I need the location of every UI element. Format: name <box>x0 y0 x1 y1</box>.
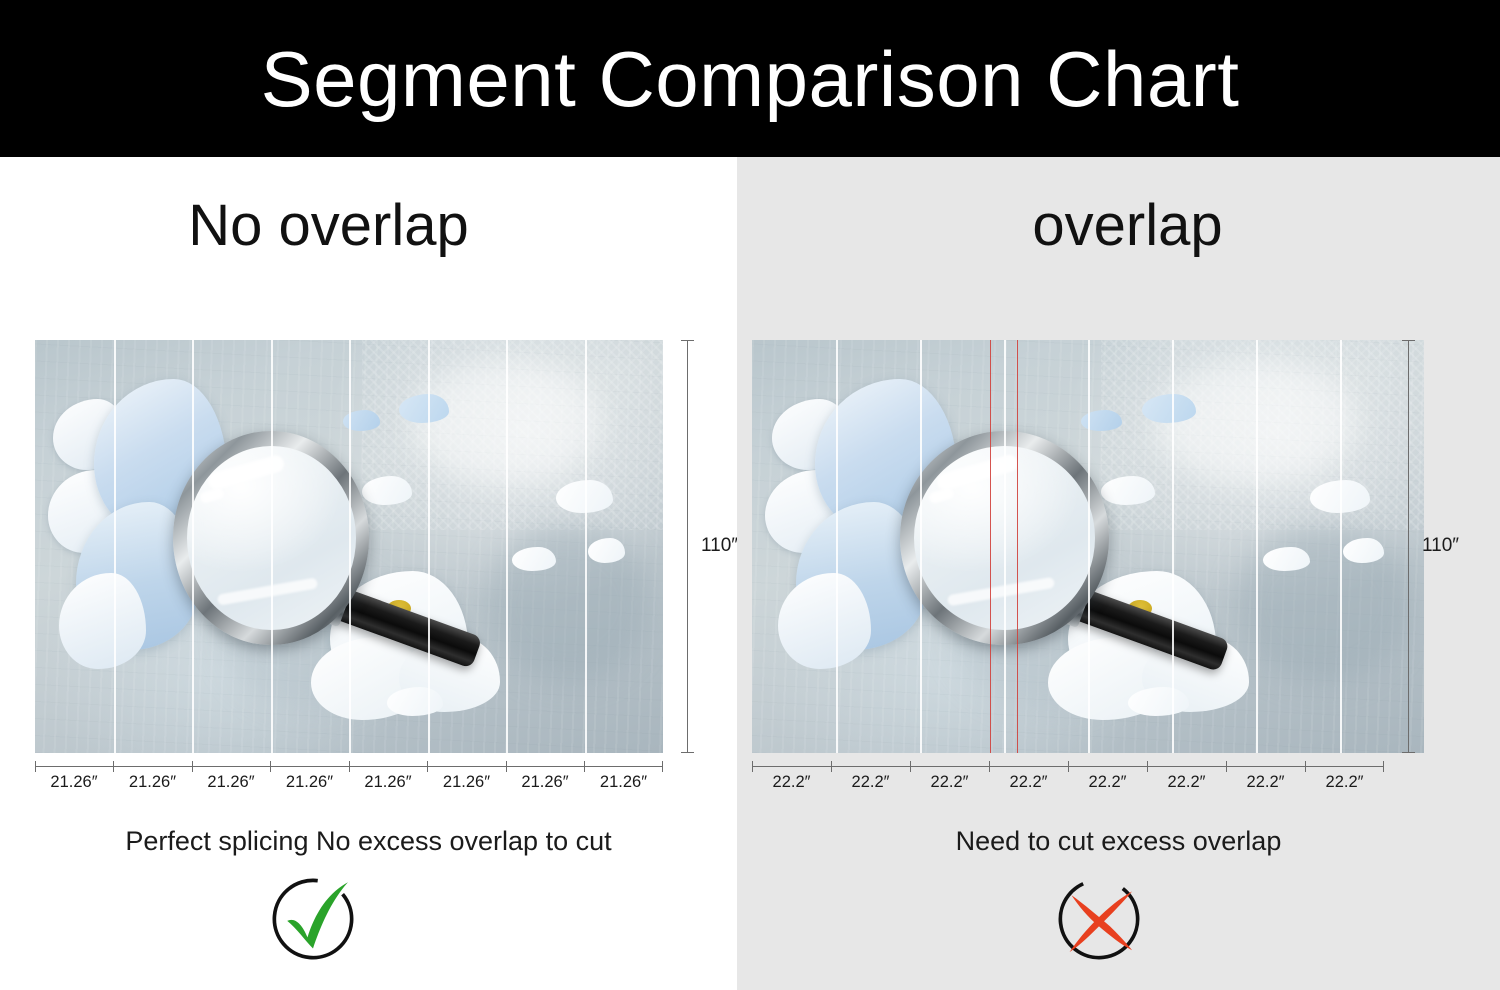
magnifier-handle <box>330 586 483 668</box>
width-dimension-tick <box>1068 761 1069 772</box>
segment-seam <box>836 340 838 753</box>
magnifier-icon <box>900 431 1303 728</box>
height-dimension-cap-top <box>1402 340 1415 341</box>
mural-figure-overlap: 110″ 22.2″ 22.2″ 22.2″ 22.2″ 22.2″ 22.2″… <box>752 340 1424 753</box>
flower-petal <box>59 573 146 670</box>
width-dimension-tick <box>192 761 193 772</box>
segment-seam <box>920 340 922 753</box>
segment-width-label: 22.2″ <box>1068 774 1147 791</box>
panel-heading-overlap: overlap <box>737 197 1500 255</box>
segment-width-label: 21.26″ <box>35 774 113 791</box>
height-dimension-cap-bottom <box>681 752 694 753</box>
segment-width-label: 22.2″ <box>989 774 1068 791</box>
width-dimension-tick <box>270 761 271 772</box>
segment-width-label: 21.26″ <box>506 774 584 791</box>
segment-width-label: 21.26″ <box>427 774 506 791</box>
segment-seam <box>1340 340 1342 753</box>
segment-width-label: 22.2″ <box>752 774 831 791</box>
height-label: 110″ <box>701 536 738 555</box>
check-circle-icon <box>267 873 359 965</box>
height-label: 110″ <box>1422 536 1459 555</box>
verdict-cross-circle <box>1053 873 1145 965</box>
lens-glare <box>199 487 225 504</box>
mural-image-overlap <box>752 340 1424 753</box>
height-dimension-line <box>687 340 688 753</box>
panel-overlap: overlap <box>737 157 1500 990</box>
segment-width-label: 22.2″ <box>910 774 989 791</box>
magnifier-handle <box>1068 586 1231 672</box>
lens-glare <box>217 577 319 605</box>
segment-width-label: 22.2″ <box>831 774 910 791</box>
segment-width-label: 21.26″ <box>584 774 663 791</box>
width-dimension-tick <box>662 761 663 772</box>
width-dimension-tick <box>752 761 753 772</box>
page-title: Segment Comparison Chart <box>261 40 1240 118</box>
segment-seam <box>271 340 273 753</box>
segment-seam <box>506 340 508 753</box>
width-dimension-tick <box>910 761 911 772</box>
width-dimension-tick <box>831 761 832 772</box>
segment-width-label: 21.26″ <box>192 774 270 791</box>
width-dimension-tick <box>113 761 114 772</box>
lens-glare <box>947 577 1056 607</box>
segment-width-label: 22.2″ <box>1305 774 1384 791</box>
segment-seam <box>114 340 116 753</box>
segment-width-label: 21.26″ <box>270 774 349 791</box>
width-dimension-tick <box>1147 761 1148 772</box>
overlap-cut-mark <box>1017 340 1018 753</box>
floating-petal-blue <box>1142 394 1196 423</box>
mural-figure-no-overlap: 110″ 21.26″ 21.26″ 21.26″ 21.26″ 21.26″ … <box>35 340 663 753</box>
height-dimension-cap-bottom <box>1402 752 1415 753</box>
segment-comparison-chart-page: Segment Comparison Chart No overlap <box>0 0 1500 990</box>
segment-seam <box>1004 340 1006 753</box>
width-dimension-tick <box>989 761 990 772</box>
width-dimension-tick <box>427 761 428 772</box>
floating-petal-blue <box>399 394 449 423</box>
segment-seam <box>585 340 587 753</box>
width-dimension-tick <box>1383 761 1384 772</box>
segment-seam <box>1256 340 1258 753</box>
comparison-panels: No overlap <box>0 157 1500 990</box>
segment-width-label: 22.2″ <box>1226 774 1305 791</box>
floating-petal <box>1343 538 1383 563</box>
width-dimension-tick <box>1305 761 1306 772</box>
floating-petal <box>588 538 626 563</box>
panel-heading-no-overlap: No overlap <box>0 197 737 255</box>
overlap-cut-mark <box>990 340 991 753</box>
cross-circle-icon <box>1053 873 1145 965</box>
panel-caption-no-overlap: Perfect splicing No excess overlap to cu… <box>0 828 737 855</box>
segment-seam <box>1172 340 1174 753</box>
title-bar: Segment Comparison Chart <box>0 0 1500 157</box>
panel-caption-overlap: Need to cut excess overlap <box>737 828 1500 855</box>
panel-no-overlap: No overlap <box>0 157 737 990</box>
segment-width-label: 22.2″ <box>1147 774 1226 791</box>
height-dimension-line <box>1408 340 1409 753</box>
segment-seam <box>428 340 430 753</box>
width-dimension-tick <box>584 761 585 772</box>
width-dimension-tick <box>35 761 36 772</box>
segment-width-label: 21.26″ <box>349 774 427 791</box>
verdict-check-circle <box>267 873 359 965</box>
width-dimension-tick <box>349 761 350 772</box>
magnifier-icon <box>173 431 550 728</box>
width-dimension-tick <box>1226 761 1227 772</box>
segment-seam <box>349 340 351 753</box>
width-dimension-tick <box>506 761 507 772</box>
mural-image-no-overlap <box>35 340 663 753</box>
segment-width-label: 21.26″ <box>113 774 192 791</box>
flower-petal <box>778 573 871 670</box>
height-dimension-cap-top <box>681 340 694 341</box>
segment-seam <box>192 340 194 753</box>
segment-seam <box>1088 340 1090 753</box>
lens-glare <box>928 487 955 505</box>
